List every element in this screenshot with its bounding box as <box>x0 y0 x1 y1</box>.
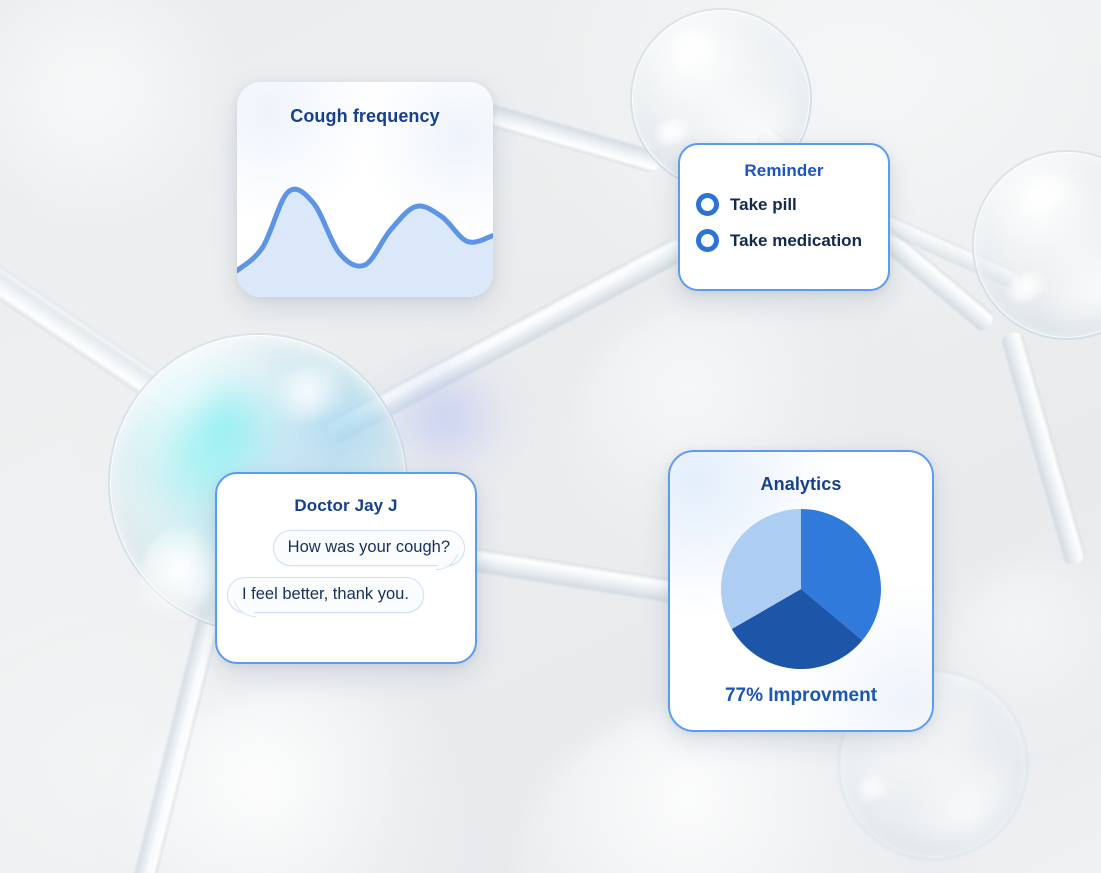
violet-bloom-b <box>290 385 400 475</box>
cough-frequency-card[interactable]: Cough frequency <box>237 82 493 297</box>
doctor-name-title: Doctor Jay J <box>217 474 475 516</box>
improvement-caption: 77% Improvment <box>670 685 932 707</box>
chat-bubble[interactable]: I feel better, thank you. <box>227 577 424 613</box>
violet-bloom-a <box>380 360 510 475</box>
reminder-item-take-pill[interactable]: Take pill <box>696 193 888 216</box>
analytics-pie-chart <box>721 509 881 669</box>
reminder-item-take-medication[interactable]: Take medication <box>696 229 888 252</box>
chat-row-outgoing: I feel better, thank you. <box>227 577 465 613</box>
cough-frequency-area-chart <box>237 137 493 297</box>
reminder-list: Take pill Take medication <box>680 181 888 252</box>
reminder-item-label: Take pill <box>730 195 797 215</box>
chat-bubble[interactable]: How was your cough? <box>273 530 465 566</box>
bond-right-to-bottomright <box>998 329 1089 567</box>
app-scene: Cough frequency Reminder Take pill Take … <box>0 0 1101 873</box>
radio-unchecked-icon[interactable] <box>696 193 719 216</box>
radio-unchecked-icon[interactable] <box>696 229 719 252</box>
reminder-item-label: Take medication <box>730 231 862 251</box>
cough-frequency-title: Cough frequency <box>237 82 493 127</box>
background-molecule <box>0 0 1101 873</box>
pie-chart-wrapper <box>670 509 932 669</box>
analytics-card[interactable]: Analytics 77% Improvment <box>668 450 934 732</box>
light-bloom-top-left <box>0 0 240 220</box>
chat-row-incoming: How was your cough? <box>227 530 465 566</box>
doctor-chat-card[interactable]: Doctor Jay J How was your cough? I feel … <box>215 472 477 664</box>
analytics-title: Analytics <box>670 452 932 495</box>
reminder-card[interactable]: Reminder Take pill Take medication <box>678 143 890 291</box>
reminder-title: Reminder <box>680 145 888 181</box>
chat-message-list: How was your cough? I feel better, thank… <box>217 516 475 613</box>
